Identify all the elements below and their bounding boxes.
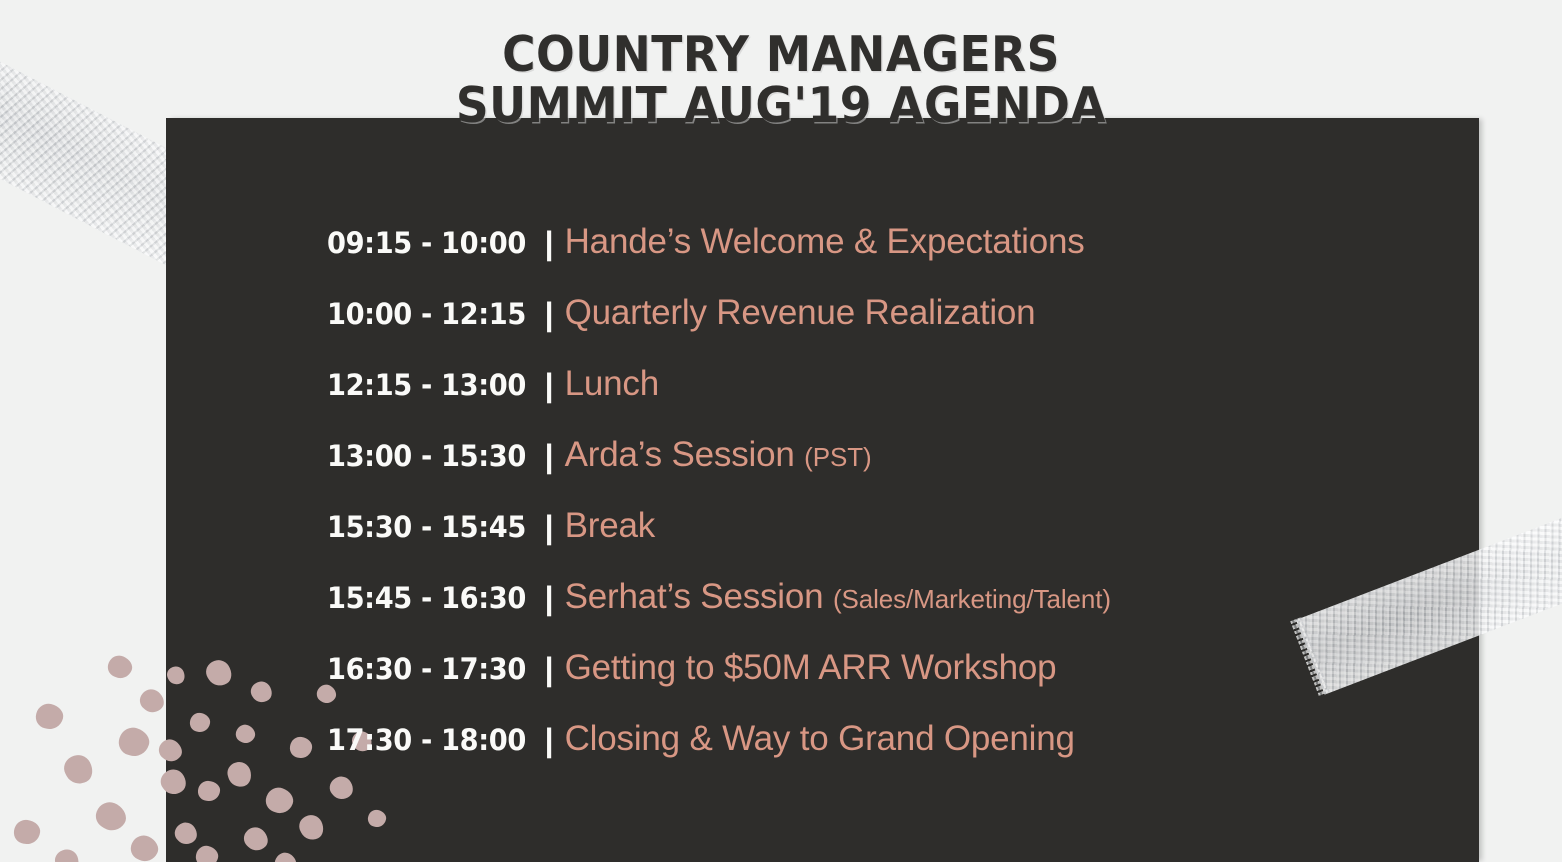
agenda-row-time: 09:15 - 10:00 [327,226,526,260]
agenda-row-description-text: Serhat’s Session [565,577,833,616]
agenda-row-description-text: Getting to $50M ARR Workshop [565,648,1057,687]
agenda-row-description: Hande’s Welcome & Expectations [565,222,1085,262]
agenda-list: 09:15 - 10:00|Hande’s Welcome & Expectat… [327,222,1447,790]
agenda-row-separator: | [545,296,554,333]
agenda-row-description: Serhat’s Session (Sales/Marketing/Talent… [565,577,1111,617]
dot-blob-icon [52,846,82,862]
agenda-row-separator: | [545,225,554,262]
agenda-row-description-text: Arda’s Session [565,435,805,474]
agenda-row-separator: | [545,722,554,759]
agenda-row-time: 12:15 - 13:00 [327,368,526,402]
agenda-row-description-text: Hande’s Welcome & Expectations [565,222,1085,261]
dot-blob-icon [105,652,136,682]
agenda-row-separator: | [545,509,554,546]
agenda-row: 17:30 - 18:00|Closing & Way to Grand Ope… [327,719,1447,790]
agenda-row-description-note: (PST) [804,442,871,472]
agenda-row-description: Lunch [565,364,659,404]
agenda-row-separator: | [545,651,554,688]
agenda-row-time: 15:45 - 16:30 [327,581,526,615]
dot-blob-icon [33,701,65,732]
agenda-row: 15:30 - 15:45|Break [327,506,1447,577]
dot-blob-icon [127,831,162,862]
agenda-row-description-text: Lunch [565,364,659,403]
agenda-row-separator: | [545,367,554,404]
agenda-slide: Country Managers Summit Aug'19 Agenda 09… [0,0,1562,862]
agenda-row-description: Closing & Way to Grand Opening [565,719,1075,759]
agenda-row-description-text: Break [565,506,655,545]
agenda-row-time: 13:00 - 15:30 [327,439,526,473]
agenda-row: 16:30 - 17:30|Getting to $50M ARR Worksh… [327,648,1447,719]
agenda-row-description: Getting to $50M ARR Workshop [565,648,1057,688]
agenda-row: 10:00 - 12:15|Quarterly Revenue Realizat… [327,293,1447,364]
agenda-row-separator: | [545,438,554,475]
agenda-row: 13:00 - 15:30|Arda’s Session (PST) [327,435,1447,506]
agenda-row: 12:15 - 13:00|Lunch [327,364,1447,435]
agenda-row-description-note: (Sales/Marketing/Talent) [833,584,1111,614]
agenda-row-description-text: Quarterly Revenue Realization [565,293,1036,332]
agenda-row-time: 15:30 - 15:45 [327,510,526,544]
dot-blob-icon [91,797,131,836]
agenda-row-description-text: Closing & Way to Grand Opening [565,719,1075,758]
page-title: Country Managers Summit Aug'19 Agenda [55,29,1508,131]
agenda-row-description: Break [565,506,655,546]
agenda-row-time: 17:30 - 18:00 [327,723,526,757]
agenda-row: 09:15 - 10:00|Hande’s Welcome & Expectat… [327,222,1447,293]
dot-blob-icon [60,750,97,788]
dot-blob-icon [116,724,153,760]
agenda-row-description: Arda’s Session (PST) [565,435,872,475]
dot-blob-icon [12,818,41,845]
agenda-row-description: Quarterly Revenue Realization [565,293,1036,333]
agenda-row-separator: | [545,580,554,617]
agenda-row: 15:45 - 16:30|Serhat’s Session (Sales/Ma… [327,577,1447,648]
dot-blob-icon [136,685,169,717]
agenda-row-time: 16:30 - 17:30 [327,652,526,686]
agenda-row-time: 10:00 - 12:15 [327,297,526,331]
